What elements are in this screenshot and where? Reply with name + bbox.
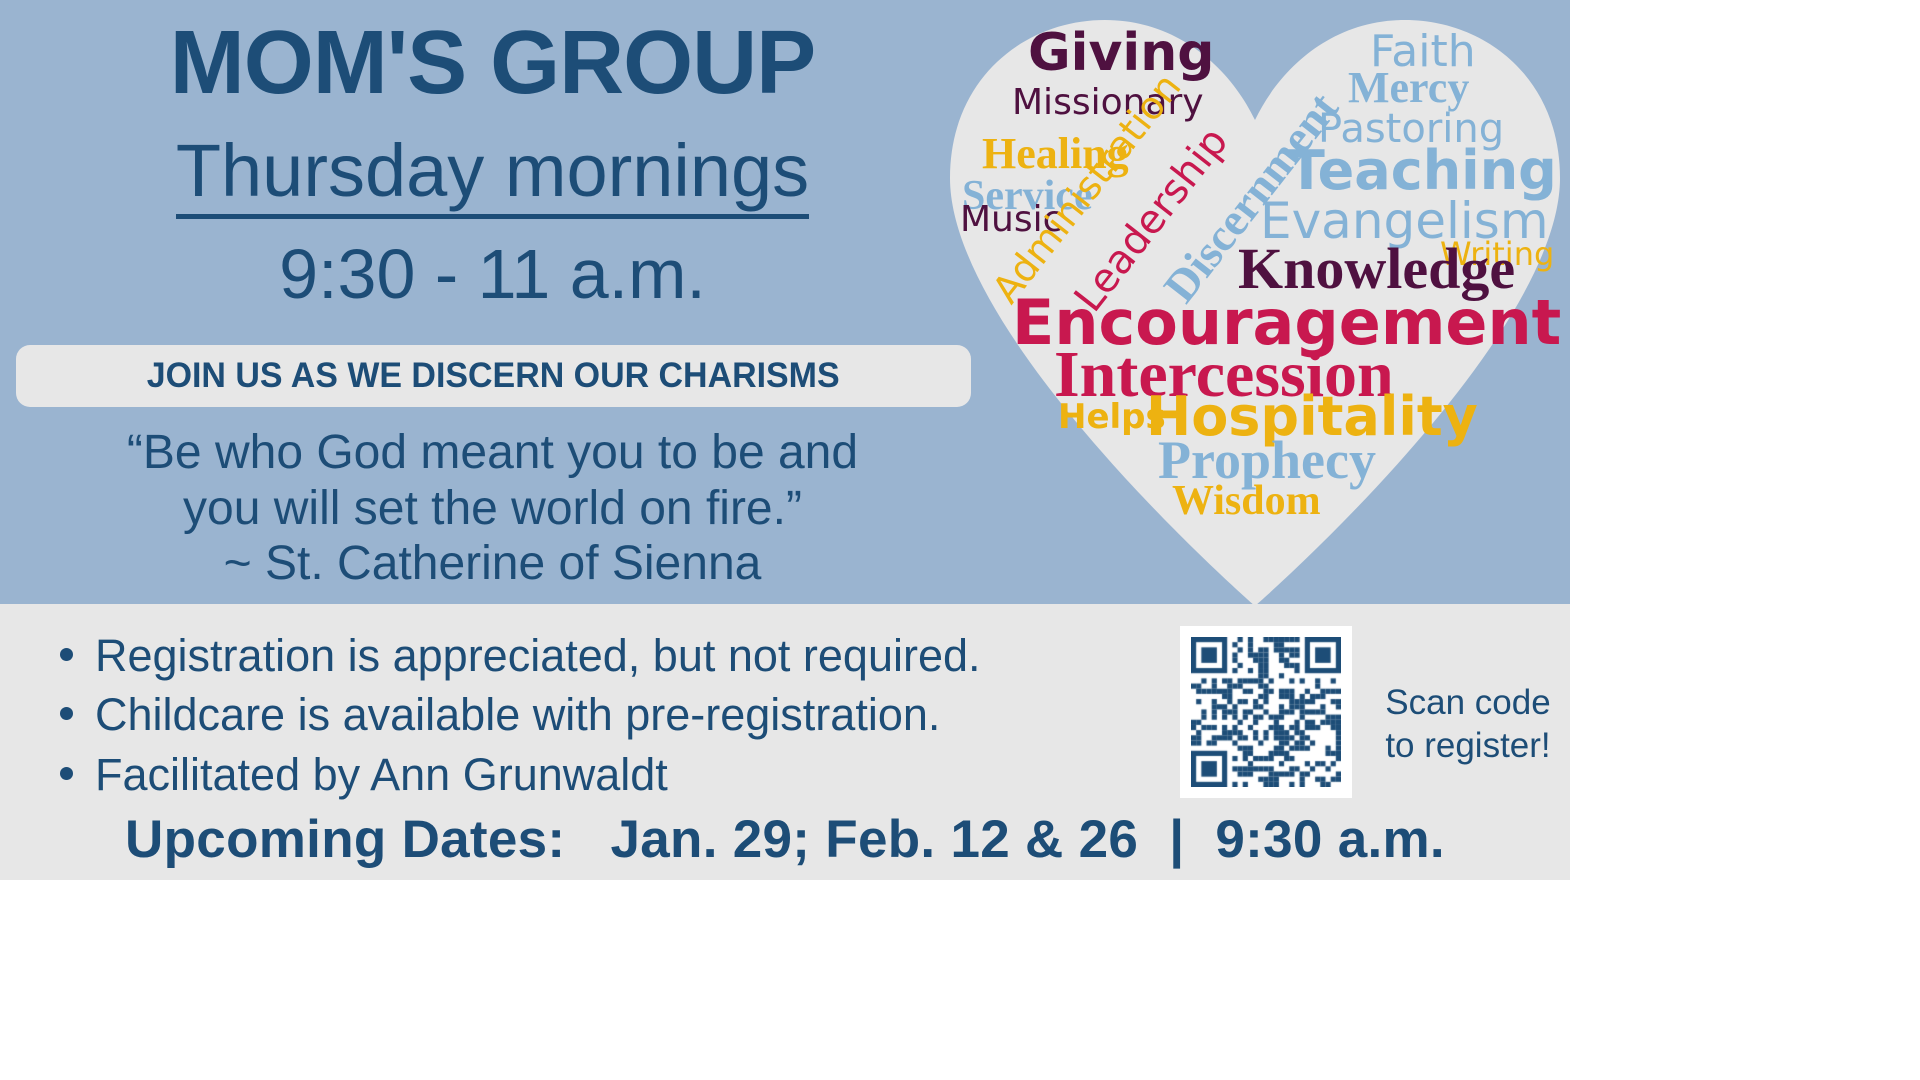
upcoming-dates-bar: Upcoming Dates: Jan. 29; Feb. 12 & 26 | … <box>0 809 1570 870</box>
quote-block: “Be who God meant you to be and you will… <box>0 425 985 592</box>
bullet-dot-icon <box>60 767 73 780</box>
quote-line-2: you will set the world on fire.” <box>0 481 985 537</box>
bullet-dot-icon <box>60 707 73 720</box>
dates-separator: | <box>1153 810 1200 869</box>
subtitle-underlined-text: Thursday mornings <box>176 129 809 219</box>
details-list: Registration is appreciated, but not req… <box>60 626 1140 804</box>
dates-value: Jan. 29; Feb. 12 & 26 <box>610 810 1138 869</box>
list-item-label: Registration is appreciated, but not req… <box>95 626 981 685</box>
quote-line-1: “Be who God meant you to be and <box>0 425 985 481</box>
word-cloud-word: Wisdom <box>1172 480 1321 522</box>
page-title: MOM'S GROUP <box>0 16 985 111</box>
badge-label: JOIN US AS WE DISCERN OUR CHARISMS <box>147 356 840 396</box>
word-cloud-word: Giving <box>1028 27 1214 79</box>
scan-line-1: Scan code <box>1368 682 1568 725</box>
list-item-label: Childcare is available with pre-registra… <box>95 685 940 744</box>
word-cloud-word: Mercy <box>1348 66 1469 110</box>
scan-line-2: to register! <box>1368 725 1568 768</box>
qr-code-container[interactable] <box>1180 626 1352 798</box>
dates-time: 9:30 a.m. <box>1215 810 1445 869</box>
quote-attribution: ~ St. Catherine of Sienna <box>0 536 985 592</box>
list-item: Facilitated by Ann Grunwaldt <box>60 745 1140 804</box>
meeting-time: 9:30 - 11 a.m. <box>0 236 985 313</box>
bullet-dot-icon <box>60 648 73 661</box>
word-cloud-word: Teaching <box>1288 144 1557 198</box>
scan-instruction: Scan code to register! <box>1368 682 1568 767</box>
list-item-label: Facilitated by Ann Grunwaldt <box>95 745 668 804</box>
details-section: Registration is appreciated, but not req… <box>0 604 1570 880</box>
qr-code-icon[interactable] <box>1191 637 1341 787</box>
subtitle-day: Thursday mornings <box>0 130 985 211</box>
list-item: Childcare is available with pre-registra… <box>60 685 1140 744</box>
charisms-word-cloud: GivingMissionaryHealingServiceMusicAdmin… <box>940 10 1570 606</box>
dates-label: Upcoming Dates: <box>125 810 565 869</box>
headline-column: MOM'S GROUP Thursday mornings 9:30 - 11 … <box>0 0 985 604</box>
list-item: Registration is appreciated, but not req… <box>60 626 1140 685</box>
status-badge: JOIN US AS WE DISCERN OUR CHARISMS <box>16 345 971 407</box>
flyer-canvas: MOM'S GROUP Thursday mornings 9:30 - 11 … <box>0 0 1570 880</box>
